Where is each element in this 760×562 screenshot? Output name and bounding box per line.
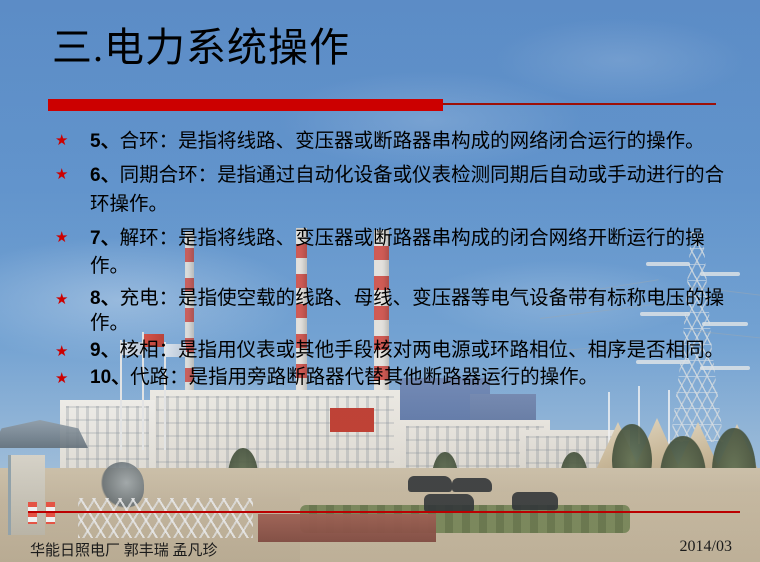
list-item-text: 合环：是指将线路、变压器或断路器串构成的网络闭合运行的操作。 — [120, 131, 705, 152]
footer-divider — [28, 511, 740, 513]
footer-credits: 华能日照电厂 郭丰瑞 孟凡珍 — [30, 539, 218, 560]
footer-date: 2014/03 — [680, 538, 732, 556]
list-item: ★ 9、核相：是指用仪表或其他手段核对两电源或环路相位、相序是否相同。 — [52, 339, 742, 364]
star-bullet-icon: ★ — [55, 293, 68, 308]
list-item: ★ 10、代路：是指用旁路断路器代替其他断路器运行的操作。 — [52, 366, 742, 391]
sliding-gate — [78, 498, 253, 538]
presentation-slide: 三.电力系统操作 ★ 5、合环：是指将线路、变压器或断路器串构成的网络闭合运行的… — [0, 0, 760, 562]
star-bullet-icon: ★ — [55, 372, 68, 387]
slide-title: 三.电力系统操作 — [52, 28, 350, 68]
parked-car — [512, 492, 558, 510]
list-item-number: 5、 — [90, 131, 120, 152]
plant-name-sign — [258, 514, 436, 542]
title-underline-thick — [48, 99, 443, 111]
star-bullet-icon: ★ — [55, 168, 68, 183]
parked-car — [424, 494, 474, 512]
list-item-text: 同期合环：是指通过自动化设备或仪表检测同期后自动或手动进行的合环操作。 — [90, 165, 724, 215]
list-item-text: 核相：是指用仪表或其他手段核对两电源或环路相位、相序是否相同。 — [120, 340, 725, 361]
star-bullet-icon: ★ — [55, 345, 68, 360]
list-item: ★ 8、充电：是指使空载的线路、母线、变压器等电气设备带有标称电压的操作。 — [52, 287, 742, 337]
list-item: ★ 5、合环：是指将线路、变压器或断路器串构成的网络闭合运行的操作。 — [52, 128, 742, 157]
star-bullet-icon: ★ — [55, 134, 68, 149]
bullet-list: ★ 5、合环：是指将线路、变压器或断路器串构成的网络闭合运行的操作。 ★ 6、同… — [52, 128, 742, 393]
list-item-number: 6、 — [90, 165, 120, 186]
list-item-number: 10、 — [90, 367, 130, 388]
star-bullet-icon: ★ — [55, 231, 68, 246]
list-item-text: 充电：是指使空载的线路、母线、变压器等电气设备带有标称电压的操作。 — [90, 288, 724, 334]
list-item-number: 7、 — [90, 228, 120, 249]
building-banner — [330, 408, 374, 432]
guard-booth — [8, 455, 45, 535]
list-item-text: 解环：是指将线路、变压器或断路器串构成的闭合网络开断运行的操作。 — [90, 228, 705, 278]
list-item-number: 9、 — [90, 340, 120, 361]
traffic-barrier — [28, 502, 37, 524]
list-item-number: 8、 — [90, 288, 120, 309]
list-item-text: 代路：是指用旁路断路器代替其他断路器运行的操作。 — [130, 367, 598, 388]
traffic-barrier — [46, 502, 55, 524]
parked-car — [408, 476, 452, 492]
list-item: ★ 6、同期合环：是指通过自动化设备或仪表检测同期后自动或手动进行的合环操作。 — [52, 162, 742, 220]
parked-car — [452, 478, 492, 492]
list-item: ★ 7、解环：是指将线路、变压器或断路器串构成的闭合网络开断运行的操作。 — [52, 225, 742, 283]
